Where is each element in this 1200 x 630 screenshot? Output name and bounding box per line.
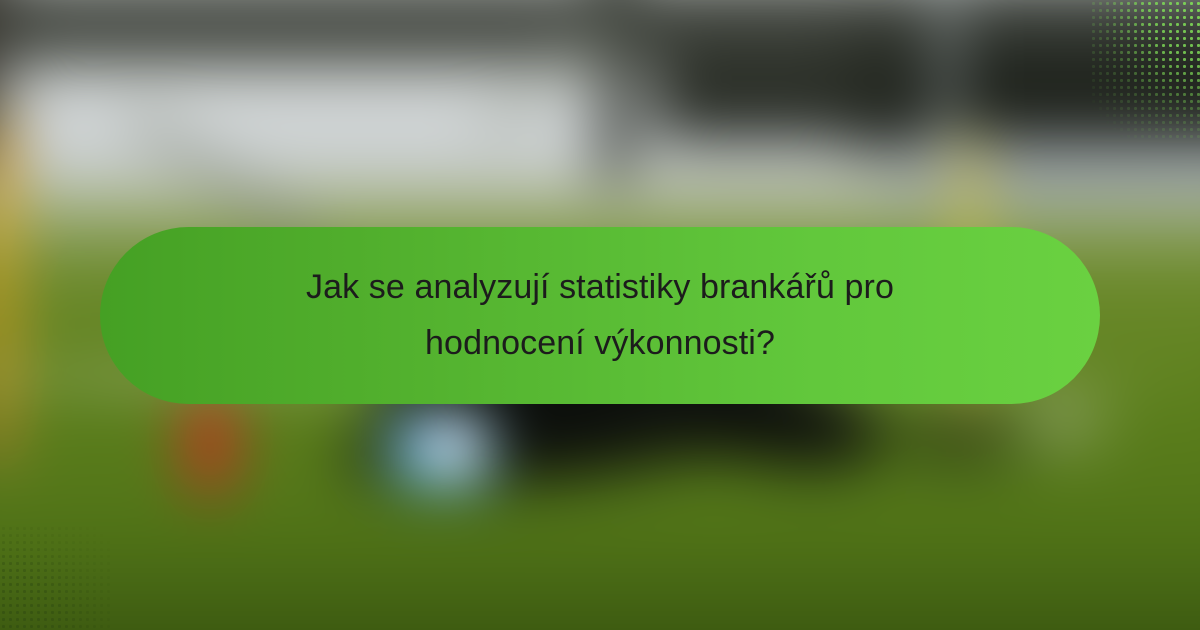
background-frame-right (940, 0, 954, 200)
background-football (390, 412, 490, 490)
background-grass-shadow (0, 550, 1200, 630)
headline-banner: Jak se analyzují statistiky brankářů pro… (100, 227, 1100, 404)
share-card: Jak se analyzují statistiky brankářů pro… (0, 0, 1200, 630)
background-dark-block-right (850, 35, 1200, 145)
background-dark-block-right-inner (650, 40, 900, 140)
headline-text: Jak se analyzují statistiky brankářů pro… (250, 260, 950, 370)
background-orange-pole (0, 120, 14, 470)
background-red-object (178, 392, 242, 502)
